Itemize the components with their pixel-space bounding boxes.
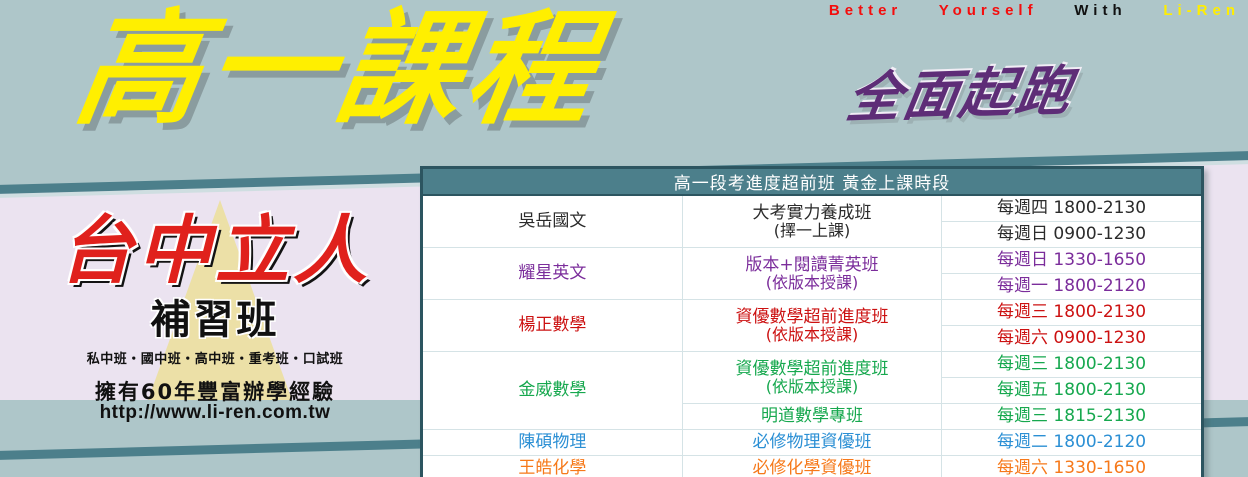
schedule-time-cell: 每週四 1800-2130 — [942, 195, 1201, 222]
schedule-time-cell: 每週六 1330-1650 — [942, 456, 1201, 477]
tagline-word-yourself: Yourself — [939, 2, 1038, 19]
tagline-word-liren: Li-Ren — [1163, 2, 1240, 19]
schedule-time-cell: 每週二 1800-2120 — [942, 430, 1201, 456]
schedule-course-cell: 資優數學超前進度班(依版本授課) — [682, 300, 941, 352]
tagline-word-better: Better — [829, 2, 902, 19]
schedule-course-name: 資優數學超前進度班 — [735, 359, 888, 379]
schedule-course-note: (擇一上課) — [687, 222, 937, 239]
page-title: 高一課程 — [68, 8, 608, 132]
schedule-time-cell: 每週六 0900-1230 — [942, 326, 1201, 352]
schedule-table-header-row: 高一段考進度超前班 黃金上課時段 — [423, 169, 1201, 195]
poster-canvas: Better Yourself With Li-Ren 高一課程 全面起跑 台中… — [0, 0, 1248, 477]
schedule-teacher-cell: 吳岳國文 — [423, 195, 682, 248]
logo-brand-name: 台中立人 — [30, 214, 400, 288]
schedule-teacher-cell: 陳碩物理 — [423, 430, 682, 456]
schedule-course-note: (依版本授課) — [687, 378, 937, 395]
schedule-course-cell: 必修化學資優班 — [682, 456, 941, 477]
tagline-word-with: With — [1074, 2, 1126, 19]
logo: 台中立人 補習班 私中班・國中班・高中班・重考班・口試班 擁有60年豐富辦學經驗… — [30, 196, 400, 426]
schedule-course-cell: 明道數學專班 — [682, 404, 941, 430]
table-row: 金威數學資優數學超前進度班(依版本授課)每週三 1800-2130 — [423, 352, 1201, 378]
schedule-course-note: (依版本授課) — [687, 274, 937, 291]
schedule-course-name: 必修物理資優班 — [752, 432, 871, 452]
table-row: 吳岳國文大考實力養成班(擇一上課)每週四 1800-2130 — [423, 195, 1201, 222]
schedule-time-cell: 每週三 1800-2130 — [942, 352, 1201, 378]
schedule-table-body: 吳岳國文大考實力養成班(擇一上課)每週四 1800-2130每週日 0900-1… — [423, 195, 1201, 477]
page-subtitle: 全面起跑 — [843, 64, 1077, 126]
schedule-course-cell: 大考實力養成班(擇一上課) — [682, 195, 941, 248]
schedule-course-name: 版本+閱讀菁英班 — [745, 255, 878, 275]
table-row: 陳碩物理必修物理資優班每週二 1800-2120 — [423, 430, 1201, 456]
schedule-time-cell: 每週五 1800-2130 — [942, 378, 1201, 404]
schedule-table: 高一段考進度超前班 黃金上課時段 吳岳國文大考實力養成班(擇一上課)每週四 18… — [423, 169, 1201, 477]
logo-website-url[interactable]: http://www.li-ren.com.tw — [30, 402, 400, 424]
logo-brand-suffix: 補習班 — [30, 300, 400, 340]
schedule-course-cell: 資優數學超前進度班(依版本授課) — [682, 352, 941, 404]
schedule-teacher-cell: 金威數學 — [423, 352, 682, 430]
schedule-time-cell: 每週日 1330-1650 — [942, 248, 1201, 274]
schedule-course-name: 明道數學專班 — [761, 406, 863, 426]
schedule-course-name: 資優數學超前進度班 — [735, 307, 888, 327]
table-row: 耀星英文版本+閱讀菁英班(依版本授課)每週日 1330-1650 — [423, 248, 1201, 274]
table-row: 楊正數學資優數學超前進度班(依版本授課)每週三 1800-2130 — [423, 300, 1201, 326]
schedule-teacher-cell: 楊正數學 — [423, 300, 682, 352]
schedule-table-container: 高一段考進度超前班 黃金上課時段 吳岳國文大考實力養成班(擇一上課)每週四 18… — [420, 166, 1204, 477]
schedule-course-cell: 版本+閱讀菁英班(依版本授課) — [682, 248, 941, 300]
schedule-table-title: 高一段考進度超前班 黃金上課時段 — [423, 169, 1201, 195]
schedule-time-cell: 每週三 1815-2130 — [942, 404, 1201, 430]
schedule-course-name: 大考實力養成班 — [752, 203, 871, 223]
schedule-course-note: (依版本授課) — [687, 326, 937, 343]
schedule-time-cell: 每週一 1800-2120 — [942, 274, 1201, 300]
logo-class-list: 私中班・國中班・高中班・重考班・口試班 — [30, 348, 400, 367]
schedule-course-cell: 必修物理資優班 — [682, 430, 941, 456]
schedule-teacher-cell: 王皓化學 — [423, 456, 682, 477]
schedule-course-name: 必修化學資優班 — [752, 458, 871, 477]
schedule-time-cell: 每週日 0900-1230 — [942, 222, 1201, 248]
table-row: 王皓化學必修化學資優班每週六 1330-1650 — [423, 456, 1201, 477]
schedule-teacher-cell: 耀星英文 — [423, 248, 682, 300]
schedule-time-cell: 每週三 1800-2130 — [942, 300, 1201, 326]
